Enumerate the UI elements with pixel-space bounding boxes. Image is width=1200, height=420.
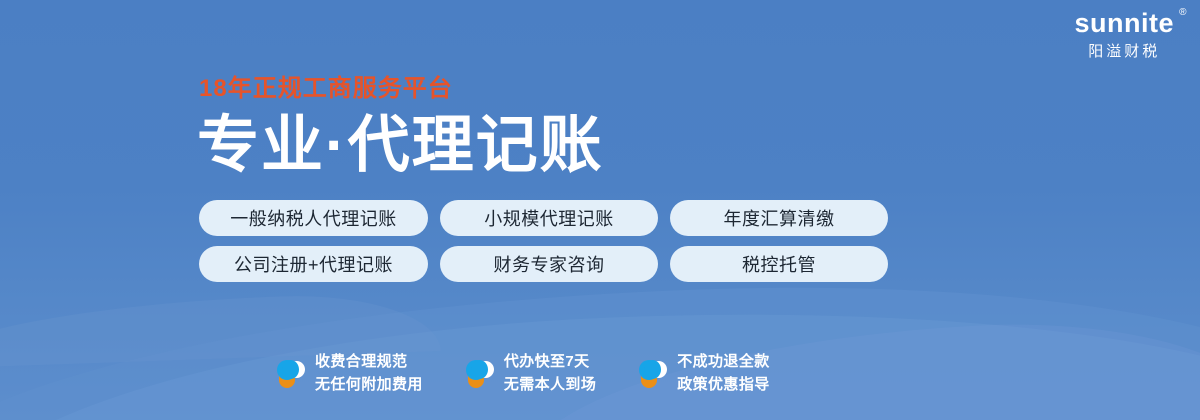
feature-item-text: 不成功退全款 政策优惠指导 bbox=[677, 351, 769, 396]
service-pill-annual-settlement[interactable]: 年度汇算清缴 bbox=[670, 200, 888, 236]
feature-line-2: 政策优惠指导 bbox=[677, 374, 769, 397]
feature-line-2: 无任何附加费用 bbox=[315, 374, 423, 397]
feature-item-speed: 代办快至7天 无需本人到场 bbox=[465, 351, 596, 396]
service-pill-row: 一般纳税人代理记账 小规模代理记账 年度汇算清缴 bbox=[199, 200, 900, 236]
logo-wordmark: sunnite ® bbox=[1074, 10, 1174, 37]
drop-dot-icon bbox=[276, 357, 306, 391]
feature-line-1: 不成功退全款 bbox=[677, 351, 769, 374]
service-pill-company-registration[interactable]: 公司注册+代理记账 bbox=[199, 246, 428, 282]
logo-wordmark-text: sunnite bbox=[1074, 8, 1174, 38]
hero-eyebrow: 18年正规工商服务平台 bbox=[199, 76, 453, 102]
logo-chinese-name: 阳溢财税 bbox=[1074, 44, 1174, 59]
brand-logo[interactable]: sunnite ® 阳溢财税 bbox=[1074, 10, 1174, 59]
drop-dot-icon bbox=[465, 357, 495, 391]
background-ribbon-1 bbox=[0, 272, 1200, 420]
feature-item-guarantee: 不成功退全款 政策优惠指导 bbox=[638, 351, 769, 396]
hero-title: 专业·代理记账 bbox=[197, 112, 604, 180]
service-pill-expert-consulting[interactable]: 财务专家咨询 bbox=[440, 246, 658, 282]
service-pill-general-taxpayer[interactable]: 一般纳税人代理记账 bbox=[199, 200, 428, 236]
feature-item-text: 收费合理规范 无任何附加费用 bbox=[315, 351, 423, 396]
feature-item-pricing: 收费合理规范 无任何附加费用 bbox=[276, 351, 423, 396]
feature-item-text: 代办快至7天 无需本人到场 bbox=[504, 351, 596, 396]
registered-trademark-icon: ® bbox=[1179, 8, 1187, 18]
feature-line-2: 无需本人到场 bbox=[504, 374, 596, 397]
promo-banner: sunnite ® 阳溢财税 18年正规工商服务平台 专业·代理记账 一般纳税人… bbox=[0, 0, 1200, 420]
feature-line-1: 收费合理规范 bbox=[315, 351, 423, 374]
service-pill-row: 公司注册+代理记账 财务专家咨询 税控托管 bbox=[199, 246, 900, 282]
service-pill-tax-control-hosting[interactable]: 税控托管 bbox=[670, 246, 888, 282]
service-pill-group: 一般纳税人代理记账 小规模代理记账 年度汇算清缴 公司注册+代理记账 财务专家咨… bbox=[199, 200, 900, 282]
service-pill-small-scale[interactable]: 小规模代理记账 bbox=[440, 200, 658, 236]
feature-strip: 收费合理规范 无任何附加费用 代办快至7天 无需本人到场 不成功退全款 政策优惠… bbox=[276, 351, 770, 396]
feature-line-1: 代办快至7天 bbox=[504, 351, 596, 374]
drop-dot-icon bbox=[638, 357, 668, 391]
